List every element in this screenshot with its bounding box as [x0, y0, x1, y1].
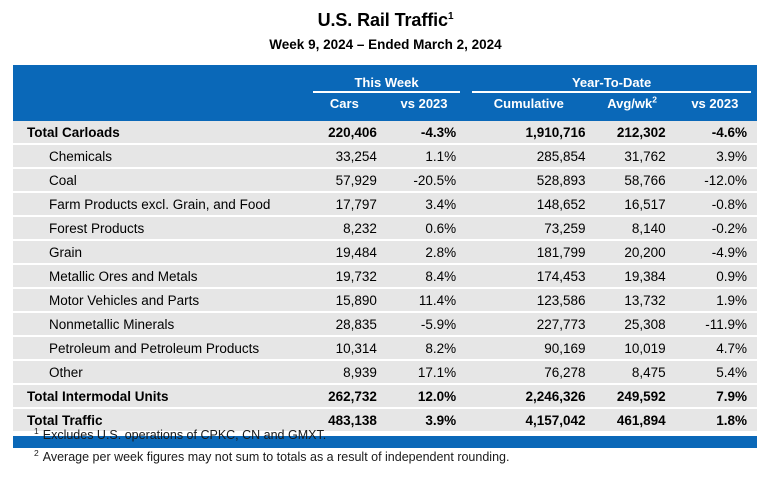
- cell-ytd-vs-2023: -0.2%: [673, 216, 757, 240]
- table-row: Forest Products8,2320.6%73,2598,140-0.2%: [13, 216, 757, 240]
- cell-avg-per-week: 58,766: [592, 168, 673, 192]
- cell-avg-per-week: 10,019: [592, 336, 673, 360]
- cell-cars: 28,835: [307, 312, 382, 336]
- page-title-text: U.S. Rail Traffic: [318, 10, 448, 30]
- footnotes: 1Excludes U.S. operations of CPKC, CN an…: [34, 424, 734, 468]
- cell-ytd-vs-2023: -12.0%: [673, 168, 757, 192]
- cell-cars: 19,484: [307, 240, 382, 264]
- cell-cars: 17,797: [307, 192, 382, 216]
- cell-ytd-vs-2023: -4.9%: [673, 240, 757, 264]
- column-header-week-vs-2023: vs 2023: [382, 93, 466, 116]
- cell-cumulative: 285,854: [466, 144, 591, 168]
- table-row: Motor Vehicles and Parts15,89011.4%123,5…: [13, 288, 757, 312]
- row-label: Petroleum and Petroleum Products: [13, 336, 307, 360]
- cell-avg-per-week: 16,517: [592, 192, 673, 216]
- column-header-avg-per-week-label: Avg/wk: [607, 96, 652, 111]
- group-header-blank: [13, 65, 307, 93]
- table-row: Petroleum and Petroleum Products10,3148.…: [13, 336, 757, 360]
- footnote-text: Excludes U.S. operations of CPKC, CN and…: [43, 428, 326, 442]
- cell-week-vs-2023: 11.4%: [382, 288, 466, 312]
- cell-ytd-vs-2023: 7.9%: [673, 384, 757, 408]
- table-row: Coal57,929-20.5%528,89358,766-12.0%: [13, 168, 757, 192]
- row-label: Nonmetallic Minerals: [13, 312, 307, 336]
- group-header-this-week: This Week: [307, 65, 466, 93]
- cell-week-vs-2023: 12.0%: [382, 384, 466, 408]
- cell-avg-per-week: 31,762: [592, 144, 673, 168]
- table-row: Total Carloads220,406-4.3%1,910,716212,3…: [13, 121, 757, 144]
- cell-avg-per-week: 212,302: [592, 121, 673, 144]
- row-label: Coal: [13, 168, 307, 192]
- column-header-cumulative: Cumulative: [466, 93, 591, 116]
- cell-ytd-vs-2023: 5.4%: [673, 360, 757, 384]
- cell-cumulative: 528,893: [466, 168, 591, 192]
- cell-avg-per-week: 249,592: [592, 384, 673, 408]
- cell-ytd-vs-2023: -0.8%: [673, 192, 757, 216]
- group-header-year-to-date-rule: [472, 91, 751, 93]
- cell-ytd-vs-2023: 1.9%: [673, 288, 757, 312]
- row-label: Total Carloads: [13, 121, 307, 144]
- cell-cars: 262,732: [307, 384, 382, 408]
- footnote-text: Average per week figures may not sum to …: [43, 450, 510, 464]
- table-body: Total Carloads220,406-4.3%1,910,716212,3…: [13, 121, 757, 432]
- cell-cumulative: 148,652: [466, 192, 591, 216]
- group-header-year-to-date-label: Year-To-Date: [572, 75, 651, 90]
- cell-cumulative: 90,169: [466, 336, 591, 360]
- cell-week-vs-2023: -20.5%: [382, 168, 466, 192]
- row-label: Motor Vehicles and Parts: [13, 288, 307, 312]
- group-header-this-week-rule: [313, 91, 460, 93]
- table-row: Other8,93917.1%76,2788,4755.4%: [13, 360, 757, 384]
- row-label: Chemicals: [13, 144, 307, 168]
- column-header-avg-per-week: Avg/wk2: [592, 93, 673, 116]
- footnote: 2Average per week figures may not sum to…: [34, 446, 734, 468]
- rail-traffic-table-wrap: This Week Year-To-Date Cars vs 2023 Cumu…: [13, 65, 757, 448]
- cell-week-vs-2023: -4.3%: [382, 121, 466, 144]
- cell-cars: 33,254: [307, 144, 382, 168]
- cell-avg-per-week: 19,384: [592, 264, 673, 288]
- group-header-row: This Week Year-To-Date: [13, 65, 757, 93]
- page-title: U.S. Rail Traffic1: [0, 9, 771, 31]
- column-header-ytd-vs-2023: vs 2023: [673, 93, 757, 116]
- cell-cars: 8,939: [307, 360, 382, 384]
- row-label: Metallic Ores and Metals: [13, 264, 307, 288]
- cell-week-vs-2023: 0.6%: [382, 216, 466, 240]
- cell-ytd-vs-2023: 0.9%: [673, 264, 757, 288]
- row-label: Total Intermodal Units: [13, 384, 307, 408]
- group-header-this-week-label: This Week: [354, 75, 418, 90]
- cell-week-vs-2023: -5.9%: [382, 312, 466, 336]
- cell-cumulative: 76,278: [466, 360, 591, 384]
- title-block: U.S. Rail Traffic1 Week 9, 2024 – Ended …: [0, 0, 771, 54]
- cell-ytd-vs-2023: -4.6%: [673, 121, 757, 144]
- cell-cars: 19,732: [307, 264, 382, 288]
- cell-cumulative: 227,773: [466, 312, 591, 336]
- table-row: Grain19,4842.8%181,79920,200-4.9%: [13, 240, 757, 264]
- page-title-footnote-marker: 1: [448, 11, 453, 22]
- rail-traffic-report: U.S. Rail Traffic1 Week 9, 2024 – Ended …: [0, 0, 771, 479]
- cell-avg-per-week: 8,475: [592, 360, 673, 384]
- cell-cumulative: 181,799: [466, 240, 591, 264]
- cell-cumulative: 1,910,716: [466, 121, 591, 144]
- footnote-marker: 1: [34, 426, 39, 436]
- cell-week-vs-2023: 3.4%: [382, 192, 466, 216]
- table-header: This Week Year-To-Date Cars vs 2023 Cumu…: [13, 65, 757, 121]
- cell-week-vs-2023: 17.1%: [382, 360, 466, 384]
- cell-cars: 15,890: [307, 288, 382, 312]
- cell-cars: 8,232: [307, 216, 382, 240]
- cell-avg-per-week: 25,308: [592, 312, 673, 336]
- table-row: Chemicals33,2541.1%285,85431,7623.9%: [13, 144, 757, 168]
- footnote-marker: 2: [34, 448, 39, 458]
- cell-week-vs-2023: 2.8%: [382, 240, 466, 264]
- cell-cars: 57,929: [307, 168, 382, 192]
- table-row: Farm Products excl. Grain, and Food17,79…: [13, 192, 757, 216]
- table-row: Nonmetallic Minerals28,835-5.9%227,77325…: [13, 312, 757, 336]
- footnote: 1Excludes U.S. operations of CPKC, CN an…: [34, 424, 734, 446]
- cell-cars: 220,406: [307, 121, 382, 144]
- rail-traffic-table: This Week Year-To-Date Cars vs 2023 Cumu…: [13, 65, 757, 448]
- cell-cumulative: 2,246,326: [466, 384, 591, 408]
- column-header-label: [13, 93, 307, 116]
- row-label: Forest Products: [13, 216, 307, 240]
- row-label: Grain: [13, 240, 307, 264]
- cell-cumulative: 73,259: [466, 216, 591, 240]
- group-header-year-to-date: Year-To-Date: [466, 65, 757, 93]
- cell-avg-per-week: 20,200: [592, 240, 673, 264]
- cell-cumulative: 174,453: [466, 264, 591, 288]
- cell-avg-per-week: 8,140: [592, 216, 673, 240]
- cell-avg-per-week: 13,732: [592, 288, 673, 312]
- table-row: Metallic Ores and Metals19,7328.4%174,45…: [13, 264, 757, 288]
- column-header-cars: Cars: [307, 93, 382, 116]
- table-row: Total Intermodal Units262,73212.0%2,246,…: [13, 384, 757, 408]
- cell-ytd-vs-2023: 4.7%: [673, 336, 757, 360]
- cell-cars: 10,314: [307, 336, 382, 360]
- row-label: Other: [13, 360, 307, 384]
- cell-ytd-vs-2023: 3.9%: [673, 144, 757, 168]
- page-subtitle: Week 9, 2024 – Ended March 2, 2024: [0, 36, 771, 54]
- cell-week-vs-2023: 8.2%: [382, 336, 466, 360]
- row-label: Farm Products excl. Grain, and Food: [13, 192, 307, 216]
- column-header-avg-per-week-footnote-marker: 2: [652, 95, 657, 105]
- column-header-row: Cars vs 2023 Cumulative Avg/wk2 vs 2023: [13, 93, 757, 116]
- cell-cumulative: 123,586: [466, 288, 591, 312]
- cell-week-vs-2023: 8.4%: [382, 264, 466, 288]
- cell-week-vs-2023: 1.1%: [382, 144, 466, 168]
- cell-ytd-vs-2023: -11.9%: [673, 312, 757, 336]
